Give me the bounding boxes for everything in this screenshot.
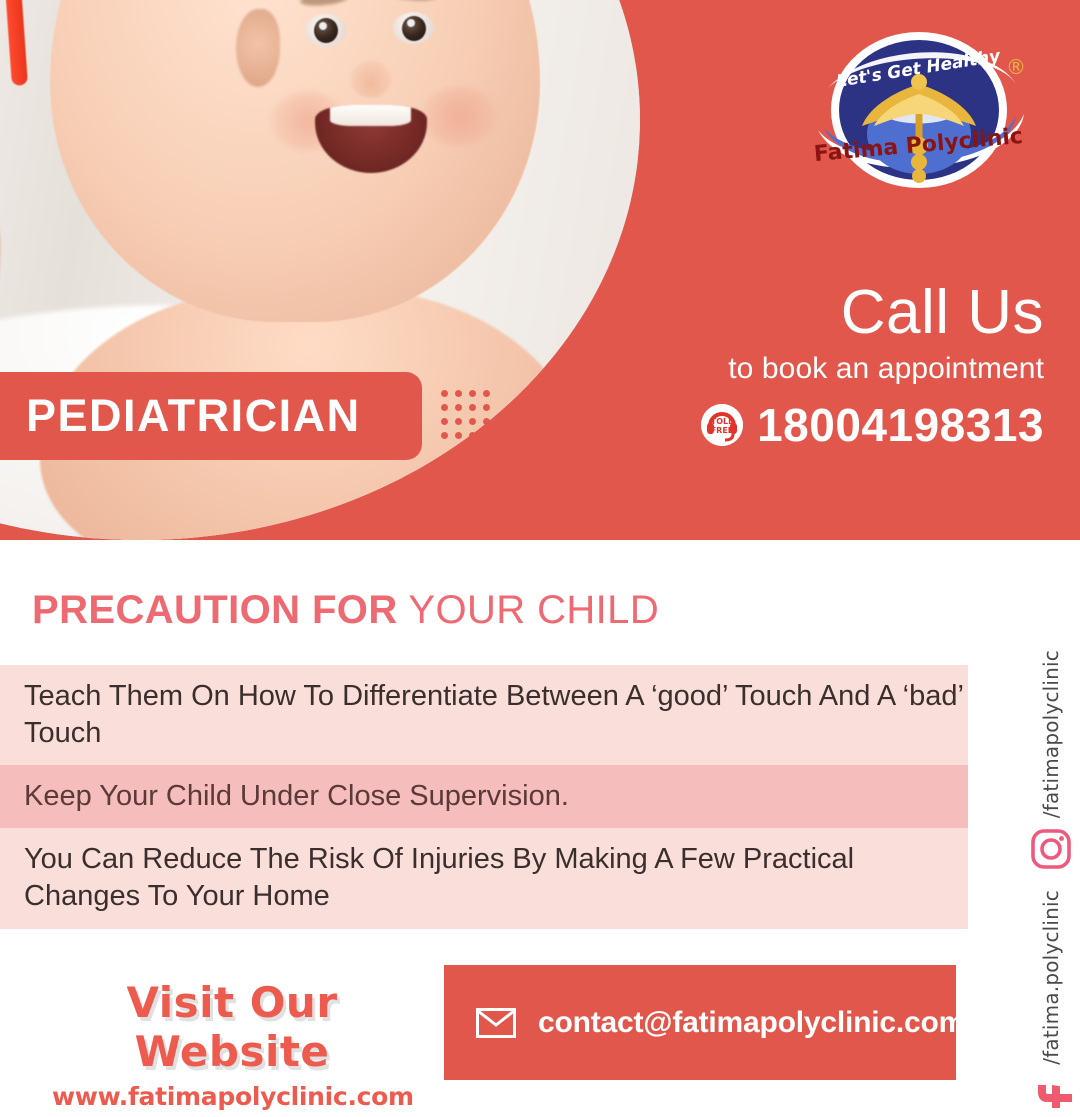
toll-free-label-1: TOLL [711, 417, 733, 426]
social-instagram[interactable]: /fatimapolyclinic [1030, 650, 1072, 870]
hero-section: Let's Get Healthy Fatima Polyclinic ® Ca… [0, 0, 1080, 540]
tips-list: Teach Them On How To Differentiate Betwe… [0, 665, 968, 929]
instagram-icon[interactable] [1030, 828, 1072, 870]
visit-website-block[interactable]: Visit Our Website www.fatimapolyclinic.c… [52, 978, 412, 1111]
call-us-title: Call Us [652, 282, 1044, 344]
social-facebook[interactable]: /fatima.polyclinic [1030, 890, 1072, 1117]
call-us-block: Call Us to book an appointment TOLL FREE… [652, 282, 1044, 452]
visit-website-title: Visit Our Website [52, 978, 412, 1076]
list-item: You Can Reduce The Risk Of Injuries By M… [0, 828, 968, 928]
list-item: Keep Your Child Under Close Supervision. [0, 765, 968, 828]
page-title: PRECAUTION FOR YOUR CHILD [32, 588, 659, 633]
facebook-handle: /fatima.polyclinic [1039, 890, 1063, 1065]
email-bar[interactable]: contact@fatimapolyclinic.com [444, 965, 956, 1080]
phone-number[interactable]: 18004198313 [757, 398, 1044, 452]
toll-free-label-2: FREE [711, 426, 734, 435]
phone-row[interactable]: TOLL FREE 18004198313 [652, 398, 1044, 452]
website-url[interactable]: www.fatimapolyclinic.com [52, 1082, 412, 1111]
baby-mouth [315, 105, 428, 173]
toll-free-icon: TOLL FREE [701, 404, 743, 446]
page-title-light: YOUR CHILD [408, 588, 659, 632]
instagram-handle: /fatimapolyclinic [1039, 650, 1063, 818]
clinic-logo: Let's Get Healthy Fatima Polyclinic ® [810, 22, 1028, 202]
email-address[interactable]: contact@fatimapolyclinic.com [538, 1006, 965, 1040]
baby-nose [351, 61, 390, 97]
envelope-icon [476, 1008, 516, 1038]
list-item: Teach Them On How To Differentiate Betwe… [0, 665, 968, 765]
call-us-subtitle: to book an appointment [652, 352, 1044, 386]
page-title-bold: PRECAUTION FOR [32, 588, 398, 632]
facebook-icon[interactable] [1030, 1075, 1072, 1117]
social-rail: /fatimapolyclinic /fatima.polyclinic [1000, 640, 1080, 1080]
logo-registered-mark: ® [1006, 55, 1026, 79]
baby-cheek-right [422, 87, 496, 144]
specialty-badge: PEDIATRICIAN [0, 372, 422, 460]
specialty-badge-label: PEDIATRICIAN [26, 390, 361, 442]
dot-pattern-decoration [441, 390, 490, 439]
